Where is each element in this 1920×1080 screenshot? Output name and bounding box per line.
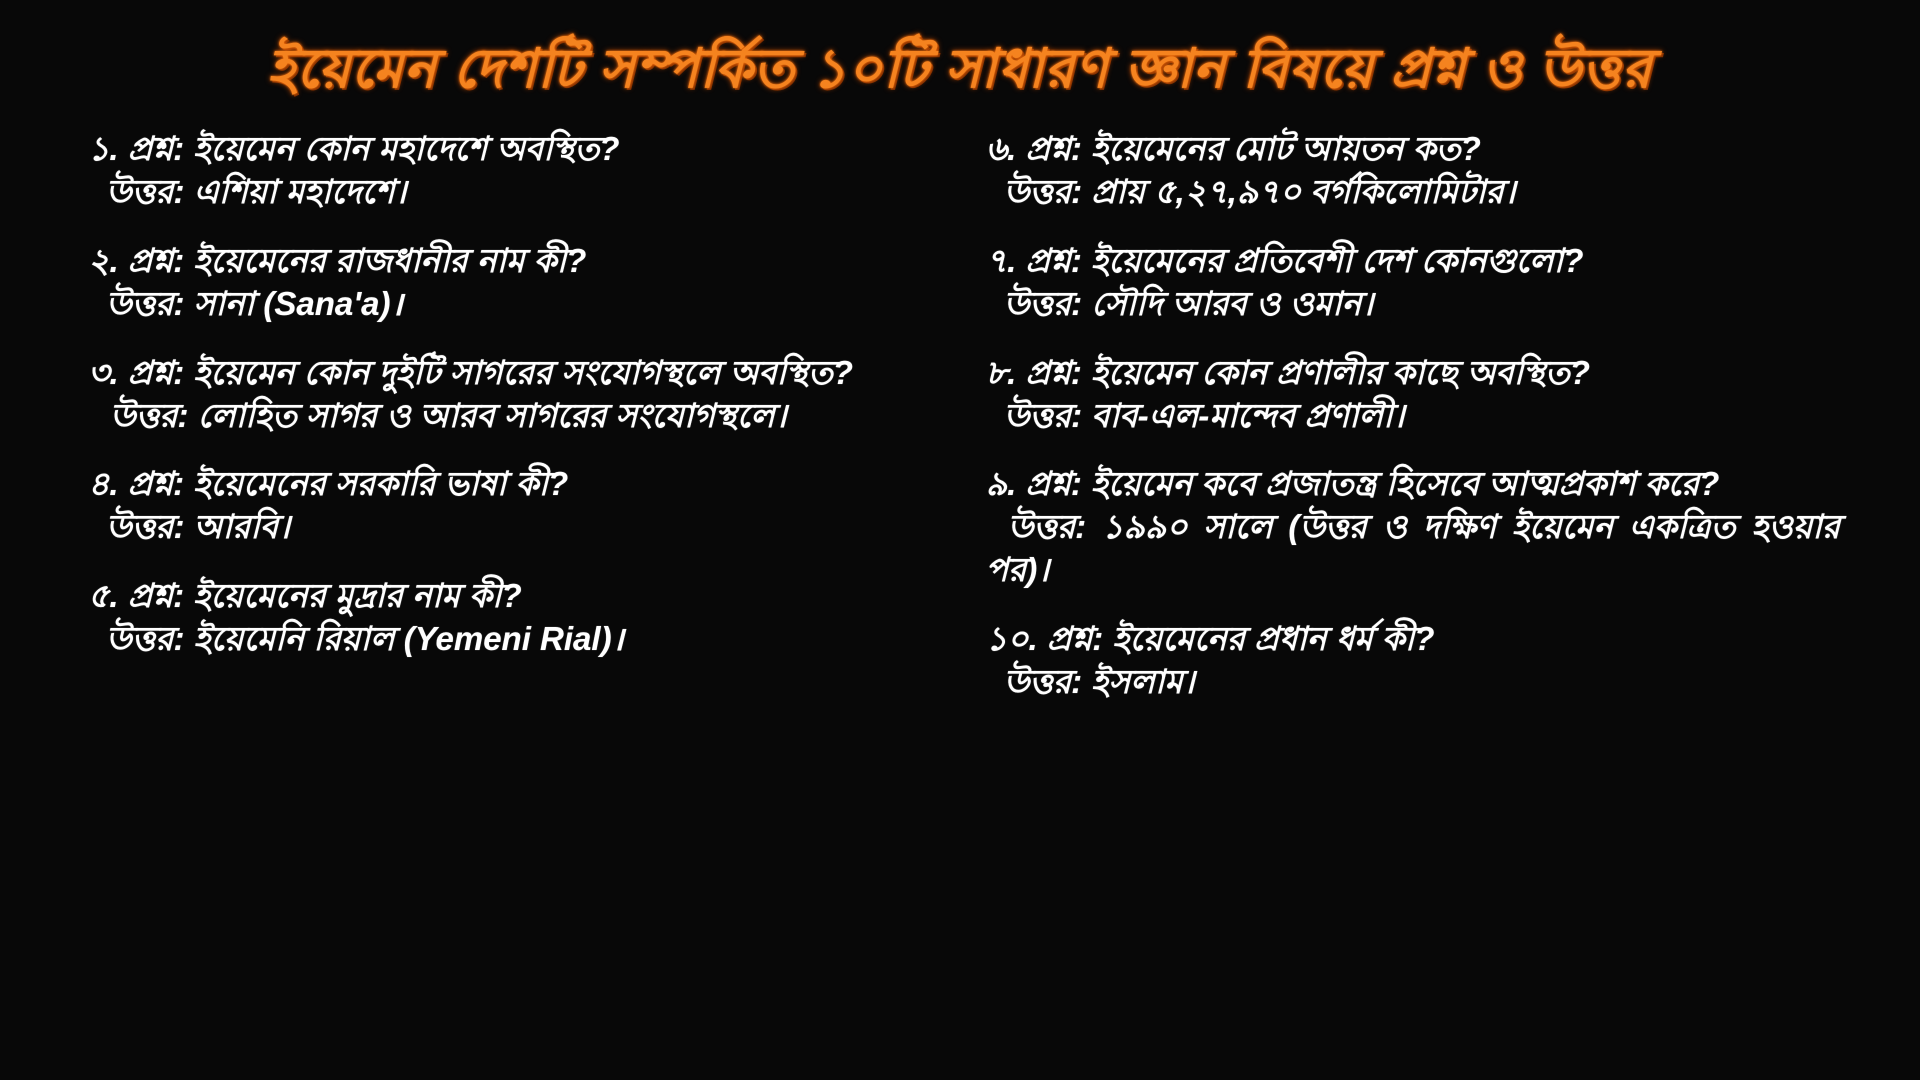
answer-7: উত্তর: সৌদি আরব ও ওমান।: [986, 283, 1840, 326]
poster-canvas: ইয়েমেন দেশটি সম্পর্কিত ১০টি সাধারণ জ্ঞা…: [0, 0, 1920, 1080]
answer-10: উত্তর: ইসলাম।: [986, 661, 1840, 704]
answer-3: উত্তর: লোহিত সাগর ও আরব সাগরের সংযোগস্থল…: [88, 395, 868, 438]
answer-2: উত্তর: সানা (Sana'a)।: [88, 283, 868, 326]
qa-item-2: ২. প্রশ্ন: ইয়েমেনের রাজধানীর নাম কী? উত…: [88, 240, 868, 326]
page-title: ইয়েমেন দেশটি সম্পর্কিত ১০টি সাধারণ জ্ঞা…: [267, 38, 1652, 100]
answer-5: উত্তর: ইয়েমেনি রিয়াল (Yemeni Rial)।: [88, 618, 868, 661]
left-column: ১. প্রশ্ন: ইয়েমেন কোন মহাদেশে অবস্থিত? …: [30, 128, 896, 730]
qa-item-3: ৩. প্রশ্ন: ইয়েমেন কোন দুইটি সাগরের সংযো…: [88, 352, 868, 438]
qa-item-5: ৫. প্রশ্ন: ইয়েমেনের মুদ্রার নাম কী? উত্…: [88, 575, 868, 661]
question-8: ৮. প্রশ্ন: ইয়েমেন কোন প্রণালীর কাছে অবস…: [986, 352, 1840, 395]
right-column: ৬. প্রশ্ন: ইয়েমেনের মোট আয়তন কত? উত্তর…: [896, 128, 1890, 730]
question-9: ৯. প্রশ্ন: ইয়েমেন কবে প্রজাতন্ত্র হিসেব…: [986, 463, 1840, 506]
qa-item-9: ৯. প্রশ্ন: ইয়েমেন কবে প্রজাতন্ত্র হিসেব…: [986, 463, 1840, 592]
qa-item-1: ১. প্রশ্ন: ইয়েমেন কোন মহাদেশে অবস্থিত? …: [88, 128, 868, 214]
answer-4: উত্তর: আরবি।: [88, 506, 868, 549]
answer-1: উত্তর: এশিয়া মহাদেশে।: [88, 171, 868, 214]
question-4: ৪. প্রশ্ন: ইয়েমেনের সরকারি ভাষা কী?: [88, 463, 868, 506]
question-7: ৭. প্রশ্ন: ইয়েমেনের প্রতিবেশী দেশ কোনগু…: [986, 240, 1840, 283]
question-10: ১০. প্রশ্ন: ইয়েমেনের প্রধান ধর্ম কী?: [986, 618, 1840, 661]
qa-columns: ১. প্রশ্ন: ইয়েমেন কোন মহাদেশে অবস্থিত? …: [0, 110, 1920, 730]
answer-6: উত্তর: প্রায় ৫,২৭,৯৭০ বর্গকিলোমিটার।: [986, 171, 1840, 214]
question-5: ৫. প্রশ্ন: ইয়েমেনের মুদ্রার নাম কী?: [88, 575, 868, 618]
answer-8: উত্তর: বাব-এল-মান্দেব প্রণালী।: [986, 395, 1840, 438]
qa-item-7: ৭. প্রশ্ন: ইয়েমেনের প্রতিবেশী দেশ কোনগু…: [986, 240, 1840, 326]
question-6: ৬. প্রশ্ন: ইয়েমেনের মোট আয়তন কত?: [986, 128, 1840, 171]
question-1: ১. প্রশ্ন: ইয়েমেন কোন মহাদেশে অবস্থিত?: [88, 128, 868, 171]
qa-item-6: ৬. প্রশ্ন: ইয়েমেনের মোট আয়তন কত? উত্তর…: [986, 128, 1840, 214]
answer-9: উত্তর: ১৯৯০ সালে (উত্তর ও দক্ষিণ ইয়েমেন…: [986, 506, 1840, 592]
qa-item-4: ৪. প্রশ্ন: ইয়েমেনের সরকারি ভাষা কী? উত্…: [88, 463, 868, 549]
question-3: ৩. প্রশ্ন: ইয়েমেন কোন দুইটি সাগরের সংযো…: [88, 352, 868, 395]
qa-item-10: ১০. প্রশ্ন: ইয়েমেনের প্রধান ধর্ম কী? উত…: [986, 618, 1840, 704]
question-2: ২. প্রশ্ন: ইয়েমেনের রাজধানীর নাম কী?: [88, 240, 868, 283]
title-area: ইয়েমেন দেশটি সম্পর্কিত ১০টি সাধারণ জ্ঞা…: [0, 0, 1920, 110]
qa-item-8: ৮. প্রশ্ন: ইয়েমেন কোন প্রণালীর কাছে অবস…: [986, 352, 1840, 438]
